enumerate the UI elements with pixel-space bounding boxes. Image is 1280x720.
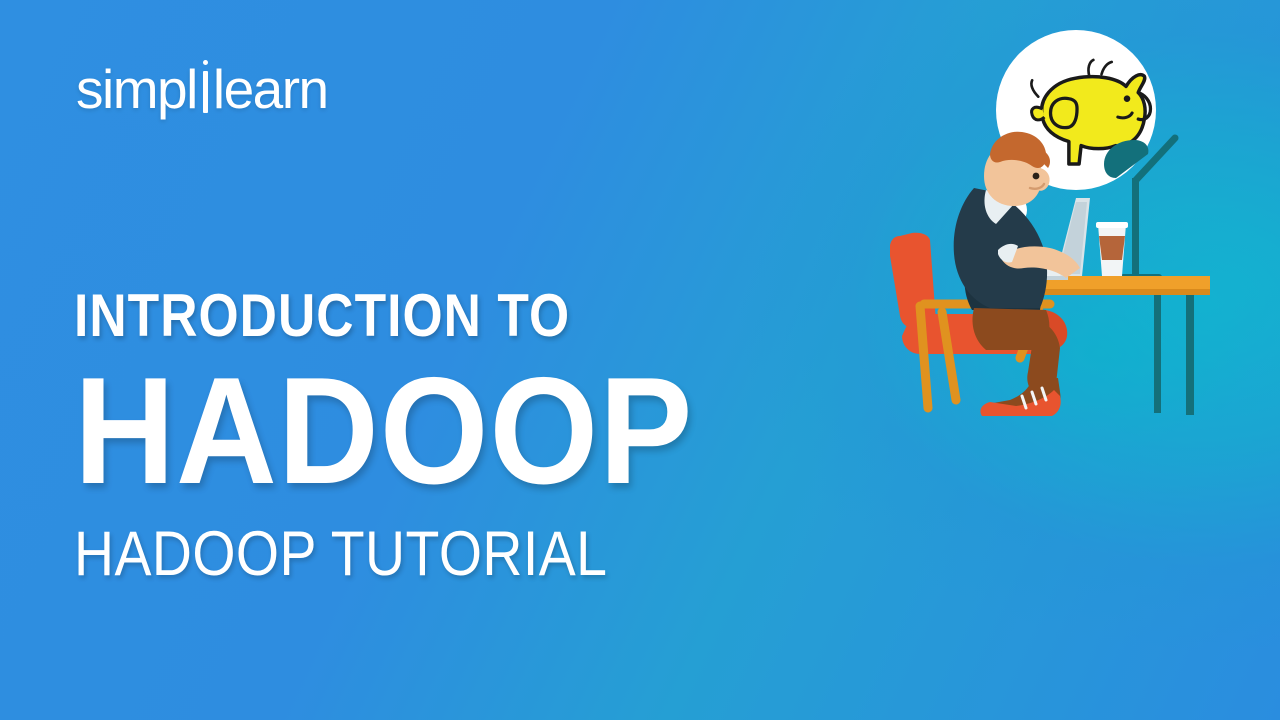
simplilearn-logo: simpl learn xyxy=(76,58,328,120)
logo-text-part-one: simpl xyxy=(76,57,197,121)
kicker-text: INTRODUCTION TO xyxy=(74,286,814,346)
coffee-cup-icon xyxy=(1096,222,1128,276)
logo-text-part-two: learn xyxy=(213,57,328,121)
title-block: INTRODUCTION TO HADOOP HADOOP TUTORIAL xyxy=(74,286,934,586)
subtitle-text: HADOOP TUTORIAL xyxy=(74,523,831,586)
slide-canvas: simpl learn INTRODUCTION TO HADOOP HADOO… xyxy=(0,0,1280,720)
logo-i-bar-icon xyxy=(197,61,213,117)
hero-illustration xyxy=(890,28,1210,418)
page-title: HADOOP xyxy=(74,354,865,509)
